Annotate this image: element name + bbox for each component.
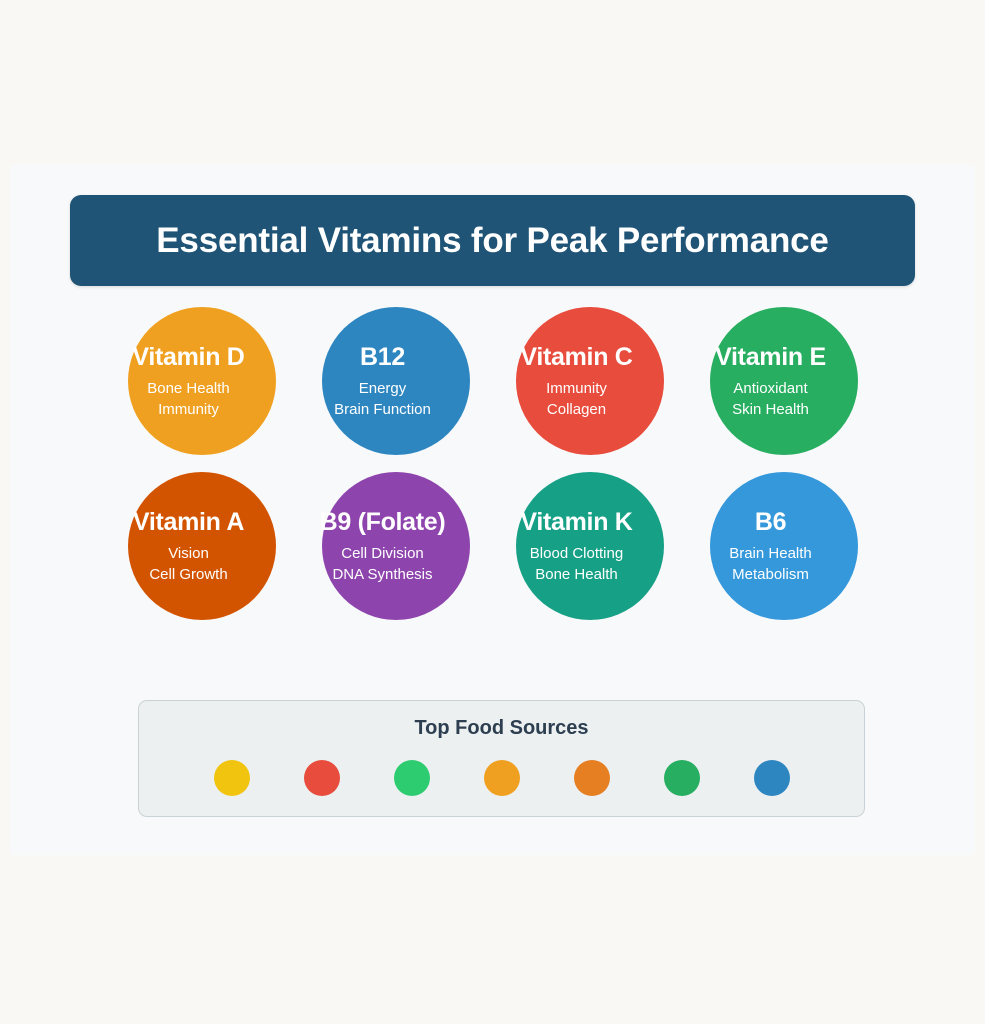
vitamin-benefit: Bone Health xyxy=(490,567,664,582)
vitamin-text: Vitamin K Blood Clotting Bone Health xyxy=(490,510,664,582)
food-source-dot[interactable] xyxy=(754,760,790,796)
vitamin-card-vitamin-k[interactable]: Vitamin K Blood Clotting Bone Health xyxy=(516,472,664,620)
food-source-dot[interactable] xyxy=(574,760,610,796)
food-source-dot[interactable] xyxy=(484,760,520,796)
page-title: Essential Vitamins for Peak Performance xyxy=(156,221,828,261)
vitamin-benefit: Vision xyxy=(102,546,276,561)
food-source-dot[interactable] xyxy=(394,760,430,796)
vitamin-benefit: Energy xyxy=(296,381,470,396)
vitamin-text: B6 Brain Health Metabolism xyxy=(684,510,858,582)
vitamin-card-b9-folate[interactable]: B9 (Folate) Cell Division DNA Synthesis xyxy=(322,472,470,620)
food-dots-row xyxy=(139,760,864,796)
vitamin-name: Vitamin D xyxy=(102,345,276,370)
vitamin-benefit: Collagen xyxy=(490,402,664,417)
vitamin-name: Vitamin E xyxy=(684,345,858,370)
vitamin-text: Vitamin E Antioxidant Skin Health xyxy=(684,345,858,417)
vitamin-name: Vitamin A xyxy=(102,510,276,535)
vitamin-card-vitamin-a[interactable]: Vitamin A Vision Cell Growth xyxy=(128,472,276,620)
vitamin-card-vitamin-e[interactable]: Vitamin E Antioxidant Skin Health xyxy=(710,307,858,455)
vitamin-card-b6[interactable]: B6 Brain Health Metabolism xyxy=(710,472,858,620)
vitamin-name: Vitamin K xyxy=(490,510,664,535)
vitamin-benefit: Immunity xyxy=(102,402,276,417)
vitamin-text: Vitamin A Vision Cell Growth xyxy=(102,510,276,582)
vitamin-text: Vitamin C Immunity Collagen xyxy=(490,345,664,417)
vitamin-name: B12 xyxy=(296,345,470,370)
vitamin-benefit: Brain Function xyxy=(296,402,470,417)
food-source-dot[interactable] xyxy=(664,760,700,796)
vitamin-name: Vitamin C xyxy=(490,345,664,370)
vitamin-text: B9 (Folate) Cell Division DNA Synthesis xyxy=(296,510,470,582)
vitamin-benefit: Cell Division xyxy=(296,546,470,561)
vitamin-benefit: Brain Health xyxy=(684,546,858,561)
vitamin-grid: Vitamin D Bone Health Immunity B12 Energ… xyxy=(10,307,975,620)
vitamin-benefit: Blood Clotting xyxy=(490,546,664,561)
vitamin-benefit: DNA Synthesis xyxy=(296,567,470,582)
vitamin-card-vitamin-d[interactable]: Vitamin D Bone Health Immunity xyxy=(128,307,276,455)
vitamin-name: B9 (Folate) xyxy=(296,510,470,535)
food-sources-panel: Top Food Sources xyxy=(138,700,865,817)
vitamin-text: Vitamin D Bone Health Immunity xyxy=(102,345,276,417)
infographic-card: Essential Vitamins for Peak Performance … xyxy=(10,165,975,855)
food-source-dot[interactable] xyxy=(304,760,340,796)
vitamin-card-b12[interactable]: B12 Energy Brain Function xyxy=(322,307,470,455)
food-sources-title: Top Food Sources xyxy=(139,717,864,740)
vitamin-benefit: Cell Growth xyxy=(102,567,276,582)
food-source-dot[interactable] xyxy=(214,760,250,796)
vitamin-card-vitamin-c[interactable]: Vitamin C Immunity Collagen xyxy=(516,307,664,455)
vitamin-benefit: Bone Health xyxy=(102,381,276,396)
vitamin-row-1: Vitamin D Bone Health Immunity B12 Energ… xyxy=(10,307,975,455)
vitamin-text: B12 Energy Brain Function xyxy=(296,345,470,417)
vitamin-benefit: Antioxidant xyxy=(684,381,858,396)
vitamin-name: B6 xyxy=(684,510,858,535)
vitamin-row-2: Vitamin A Vision Cell Growth B9 (Folate)… xyxy=(10,472,975,620)
vitamin-benefit: Metabolism xyxy=(684,567,858,582)
vitamin-benefit: Immunity xyxy=(490,381,664,396)
title-banner: Essential Vitamins for Peak Performance xyxy=(70,195,915,286)
vitamin-benefit: Skin Health xyxy=(684,402,858,417)
